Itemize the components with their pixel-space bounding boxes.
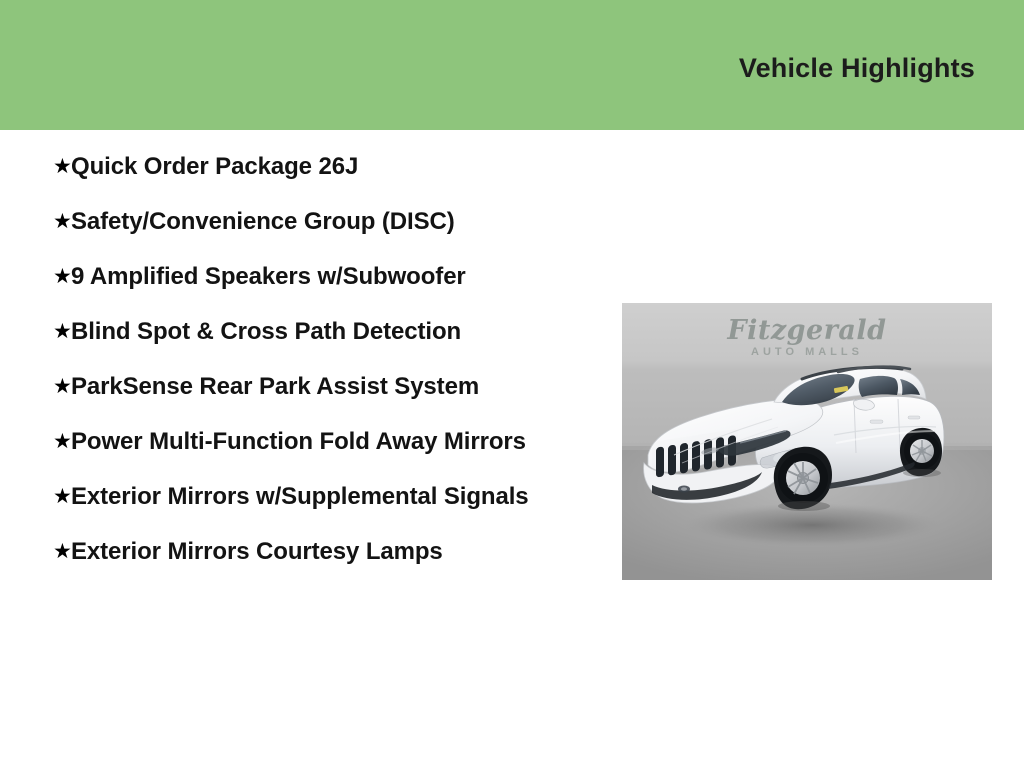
list-item: ★ 9 Amplified Speakers w/Subwoofer bbox=[40, 260, 600, 294]
star-icon: ★ bbox=[40, 260, 71, 294]
highlight-label: Quick Order Package 26J bbox=[71, 150, 571, 184]
list-item: ★ Quick Order Package 26J bbox=[40, 150, 600, 184]
list-item: ★ Safety/Convenience Group (DISC) bbox=[40, 205, 600, 239]
star-icon: ★ bbox=[40, 480, 71, 514]
highlight-label: ParkSense Rear Park Assist System bbox=[71, 370, 571, 404]
highlight-label: Exterior Mirrors Courtesy Lamps bbox=[71, 535, 571, 569]
list-item: ★ Power Multi-Function Fold Away Mirrors bbox=[40, 425, 600, 459]
star-icon: ★ bbox=[40, 205, 71, 239]
vehicle-photo-image bbox=[622, 303, 992, 580]
list-item: ★ Exterior Mirrors w/Supplemental Signal… bbox=[40, 480, 600, 514]
star-icon: ★ bbox=[40, 150, 71, 184]
highlight-label: Power Multi-Function Fold Away Mirrors bbox=[71, 425, 571, 459]
highlight-label: Safety/Convenience Group (DISC) bbox=[71, 205, 571, 239]
vehicle-highlights-list: ★ Quick Order Package 26J ★ Safety/Conve… bbox=[0, 130, 600, 590]
star-icon: ★ bbox=[40, 535, 71, 569]
list-item: ★ ParkSense Rear Park Assist System bbox=[40, 370, 600, 404]
star-icon: ★ bbox=[40, 315, 71, 349]
list-item: ★ Exterior Mirrors Courtesy Lamps bbox=[40, 535, 600, 569]
highlight-label: 9 Amplified Speakers w/Subwoofer bbox=[71, 260, 571, 294]
list-item: ★ Blind Spot & Cross Path Detection bbox=[40, 315, 600, 349]
vehicle-highlights-page: Vehicle Highlights ★ Quick Order Package… bbox=[0, 0, 1024, 768]
highlight-label: Blind Spot & Cross Path Detection bbox=[71, 315, 571, 349]
highlight-label: Exterior Mirrors w/Supplemental Signals bbox=[71, 480, 571, 514]
star-icon: ★ bbox=[40, 370, 71, 404]
vehicle-photo: Fitzgerald AUTO MALLS bbox=[622, 303, 992, 580]
star-icon: ★ bbox=[40, 425, 71, 459]
page-title: Vehicle Highlights bbox=[739, 47, 1024, 84]
header-band: Vehicle Highlights bbox=[0, 0, 1024, 130]
